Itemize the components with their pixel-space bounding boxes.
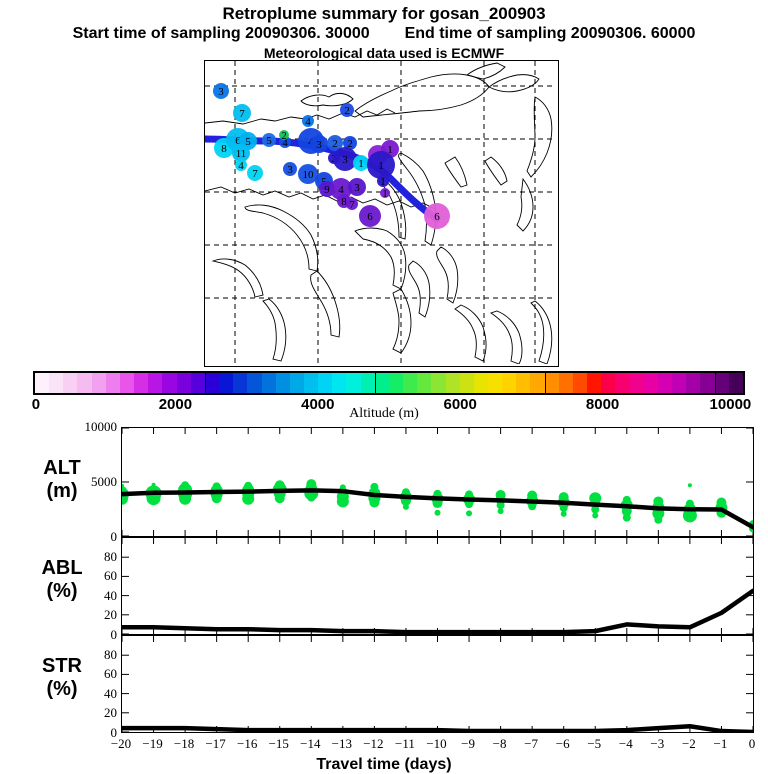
cluster-label: 3 [287,164,293,176]
map-coastline [355,228,406,289]
colorbar-band [587,373,601,393]
alt-scatter-point [623,514,631,522]
cluster-label: 1 [380,176,386,188]
cluster-label: 2 [332,138,338,150]
y-axis-tick-labels: 0500010000020406080020406080 [55,424,117,734]
colorbar-band [630,373,644,393]
map-canvas: 3724865114754243222311111131059438766 [205,61,556,364]
colorbar-band [700,373,714,393]
abl-plot [122,538,753,634]
colorbar-band [262,373,276,393]
map-cluster-marker: 2 [340,103,354,117]
map-cluster-marker: 4 [235,159,247,172]
alt-scatter-point [369,498,379,508]
x-tick-label: −8 [493,736,507,752]
alt-scatter-point [212,493,222,503]
cluster-label: 1 [358,158,364,170]
map-cluster-marker: 3 [310,135,328,153]
title-block: Retroplume summary for gosan_200903 Star… [0,0,768,62]
colorbar-band [332,373,346,393]
map-cluster-marker: 5 [262,133,276,147]
map-coastline [213,259,263,297]
colorbar-band [686,373,700,393]
colorbar-band [63,373,77,393]
alt-scatter-point [337,495,349,507]
colorbar-band [304,373,318,393]
map-cluster-marker: 7 [233,104,251,122]
map-coastline [467,63,505,79]
colorbar-band [615,373,629,393]
x-tick-label: −15 [269,736,289,752]
alt-scatter-point [688,483,692,487]
y-tick-label: 0 [57,627,117,643]
sampling-time-line: Start time of sampling 20090306. 30000 E… [0,24,768,44]
str-plot [122,636,753,732]
colorbar-band [276,373,290,393]
x-tick-label: −14 [300,736,320,752]
alt-scatter-point [275,493,285,503]
colorbar-band [446,373,460,393]
colorbar-band [474,373,488,393]
colorbar-gradient [33,371,745,395]
colorbar-band [148,373,162,393]
colorbar-band [35,373,49,393]
alt-scatter-point [466,510,472,516]
colorbar-band [290,373,304,393]
start-time-label: Start time of sampling 20090306. 30000 [73,25,370,42]
colorbar-band [205,373,219,393]
colorbar-band [361,373,375,393]
map-cluster-marker: 3 [348,178,366,196]
colorbar-band [134,373,148,393]
x-tick-label: −17 [205,736,225,752]
colorbar-band [77,373,91,393]
colorbar-band [417,373,431,393]
colorbar-band [573,373,587,393]
map-cluster-marker: 1 [377,175,389,188]
y-tick-label: 20 [57,705,117,721]
alt-scatter-point [403,504,409,510]
map-cluster-marker: 6 [359,205,381,227]
colorbar-band [233,373,247,393]
x-tick-label: −5 [587,736,601,752]
y-tick-label: 80 [57,647,117,663]
cluster-label: 6 [367,211,373,223]
y-tick-label: 40 [57,588,117,604]
y-tick-label: 20 [57,607,117,623]
map-coastline [527,97,552,177]
x-tick-label: −11 [395,736,415,752]
x-axis-tick-labels: −20−19−18−17−16−15−14−13−12−11−10−9−8−7−… [121,736,754,756]
y-tick-label: 60 [57,666,117,682]
x-tick-label: −7 [524,736,538,752]
colorbar-band [106,373,120,393]
y-tick-label: 80 [57,549,117,565]
map-coastline [531,301,552,364]
y-tick-label: 0 [57,725,117,741]
cluster-label: 7 [239,108,245,120]
cluster-label: 11 [236,148,247,160]
map-cluster-marker: 7 [247,165,263,181]
figure-title: Retroplume summary for gosan_200903 [0,3,768,24]
colorbar-band [219,373,233,393]
colorbar-band [49,373,63,393]
map-cluster-marker: 4 [302,115,314,128]
cluster-label: 5 [266,135,272,147]
map-coastline [409,261,430,317]
figure-canvas: Retroplume summary for gosan_200903 Star… [0,0,768,768]
cluster-label: 6 [434,211,440,223]
x-tick-label: −9 [461,736,475,752]
map-cluster-marker: 1 [367,151,395,179]
alt-scatter-point [307,494,315,502]
x-tick-label: −2 [682,736,696,752]
map-coastline [491,311,522,364]
colorbar-band [559,373,573,393]
alt-scatter-point [242,493,254,505]
colorbar-band [120,373,134,393]
map-coastline [455,305,486,361]
end-time-label: End time of sampling 20090306. 60000 [405,25,696,42]
cluster-label: 10 [303,169,315,181]
colorbar-band [247,373,261,393]
alt-scatter-point [654,516,662,524]
map-coastline [355,74,489,117]
map-coastline [489,75,539,92]
colorbar-band [601,373,615,393]
map-cluster-marker: 3 [213,83,229,99]
colorbar-band [658,373,672,393]
y-tick-label: 60 [57,568,117,584]
colorbar-band [545,373,559,393]
y-tick-label: 10000 [57,419,117,435]
y-tick-label: 40 [57,686,117,702]
colorbar-band [162,373,176,393]
x-tick-label: −20 [111,736,131,752]
abl-plot-panel [121,537,754,635]
colorbar-band [644,373,658,393]
x-tick-label: −1 [714,736,728,752]
x-tick-label: −6 [556,736,570,752]
cluster-label: 7 [349,199,355,211]
x-tick-label: −4 [619,736,633,752]
x-tick-label: −12 [363,736,383,752]
alt-scatter-point [561,511,567,517]
x-tick-label: −18 [174,736,194,752]
colorbar-band [502,373,516,393]
y-tick-label: 0 [57,529,117,545]
timeseries-block: ALT (m) ABL (%) STR (%) 0500010000020406… [0,424,768,734]
alt-plot-panel [121,427,754,537]
map-coastline [517,179,533,231]
cluster-label: 4 [238,160,244,172]
retroplume-map: 3724865114754243222311111131059438766 [204,60,559,367]
altitude-colorbar: 0200040006000800010000 [33,371,745,395]
cluster-label: 4 [305,116,311,128]
cluster-label: 2 [344,105,350,117]
map-cluster-marker: 3 [283,162,297,176]
map-cluster-marker: 6 [424,203,450,229]
alt-scatter-point [592,512,598,518]
cluster-label: 7 [252,168,258,180]
colorbar-band [191,373,205,393]
colorbar-band [389,373,403,393]
alt-scatter-point [435,510,441,516]
map-cluster-marker: 1 [353,155,369,171]
map-coastline [485,157,507,185]
colorbar-band [375,373,389,393]
x-tick-label: −3 [650,736,664,752]
cluster-label: 9 [324,184,330,196]
mean-line [122,591,753,632]
colorbar-band [488,373,502,393]
map-coastline [445,157,467,187]
map-cluster-marker: 7 [346,198,358,211]
colorbar-band [530,373,544,393]
colorbar-band [460,373,474,393]
colorbar-band [403,373,417,393]
map-coastline [393,289,411,353]
colorbar-band [672,373,686,393]
colorbar-band [729,373,743,393]
colorbar-band [346,373,360,393]
cluster-label: 2 [281,130,287,142]
x-tick-label: −19 [142,736,162,752]
colorbar-band [92,373,106,393]
colorbar-band [177,373,191,393]
cluster-label: 1 [378,160,384,172]
cluster-label: 3 [342,154,348,166]
colorbar-band [318,373,332,393]
cluster-label: 1 [382,188,388,200]
map-cluster-marker: 1 [380,188,390,200]
cluster-label: 8 [221,143,227,155]
str-plot-panel [121,635,754,733]
colorbar-band [516,373,530,393]
x-axis-title: Travel time (days) [0,756,768,774]
cluster-label: 3 [218,86,224,98]
map-coastline [311,271,340,337]
x-tick-label: −10 [426,736,446,752]
map-coastline [263,299,286,361]
x-tick-label: 0 [749,736,756,752]
map-coastline [399,153,436,245]
map-coastline [245,205,318,271]
alt-scatter-point [498,508,504,514]
x-tick-label: −16 [237,736,257,752]
colorbar-band [431,373,445,393]
y-tick-label: 5000 [57,474,117,490]
cluster-label: 3 [316,139,322,151]
map-coastline [437,247,458,303]
map-cluster-marker: 3 [333,147,357,171]
cluster-label: 3 [354,182,360,194]
x-tick-label: −13 [332,736,352,752]
colorbar-band [715,373,729,393]
alt-plot [122,428,753,536]
